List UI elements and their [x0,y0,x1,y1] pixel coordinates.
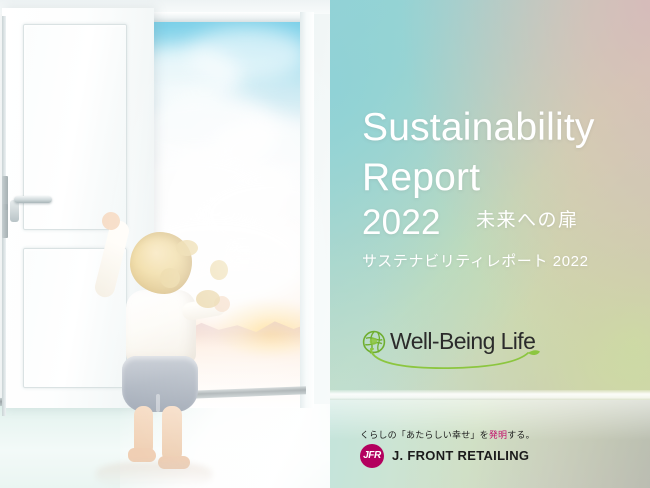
title-line-report: Report [362,158,480,197]
door-handle-icon [14,196,52,203]
leaf-swoosh-icon [368,348,540,370]
title-year: 2022 [362,205,441,240]
jfr-tagline-part1: くらしの「あたらしい幸せ」を [360,430,489,440]
child-left-foot [128,448,156,462]
japanese-subtitle: サステナビリティレポート 2022 [362,254,589,269]
child-left-arm [93,219,131,300]
child-icon [96,218,212,468]
child-right-leg [162,406,182,462]
cloud-shape [188,28,306,80]
cover-photograph [0,0,330,488]
sustainability-report-cover: Sustainability Report 2022 未来への扉 サステナビリテ… [0,0,650,488]
hair-curl [196,290,220,308]
jfr-company-name: J. FRONT RETAILING [392,448,529,463]
jfr-tagline-part2: する。 [507,430,535,440]
child-floor-reflection [96,462,212,488]
jfr-tagline: くらしの「あたらしい幸せ」を発明する。 [360,428,535,441]
well-being-life-logo: Well-Being Life [362,326,542,370]
hair-curl [210,260,228,280]
jfr-logo-text: JFR [360,444,384,468]
door-frame-header [140,12,312,22]
panel-floor-edge [330,390,650,400]
japanese-tagline: 未来への扉 [476,211,579,230]
child-hair [130,232,192,294]
title-line-sustainability: Sustainability [362,108,595,147]
door-hinge [2,204,8,238]
jfr-logo-mark: JFR [360,444,384,468]
hair-curl [176,240,198,256]
child-shirt [126,290,196,364]
jfr-tagline-highlight: 発明 [489,430,507,440]
jfr-brand-lockup: くらしの「あたらしい幸せ」を発明する。 JFR J. FRONT RETAILI… [360,428,600,472]
child-shorts-seam [156,394,160,412]
door-frame-jamb [300,12,314,408]
child-shorts [122,356,198,412]
door-lock-plate [10,200,19,222]
hair-curl [160,268,180,288]
